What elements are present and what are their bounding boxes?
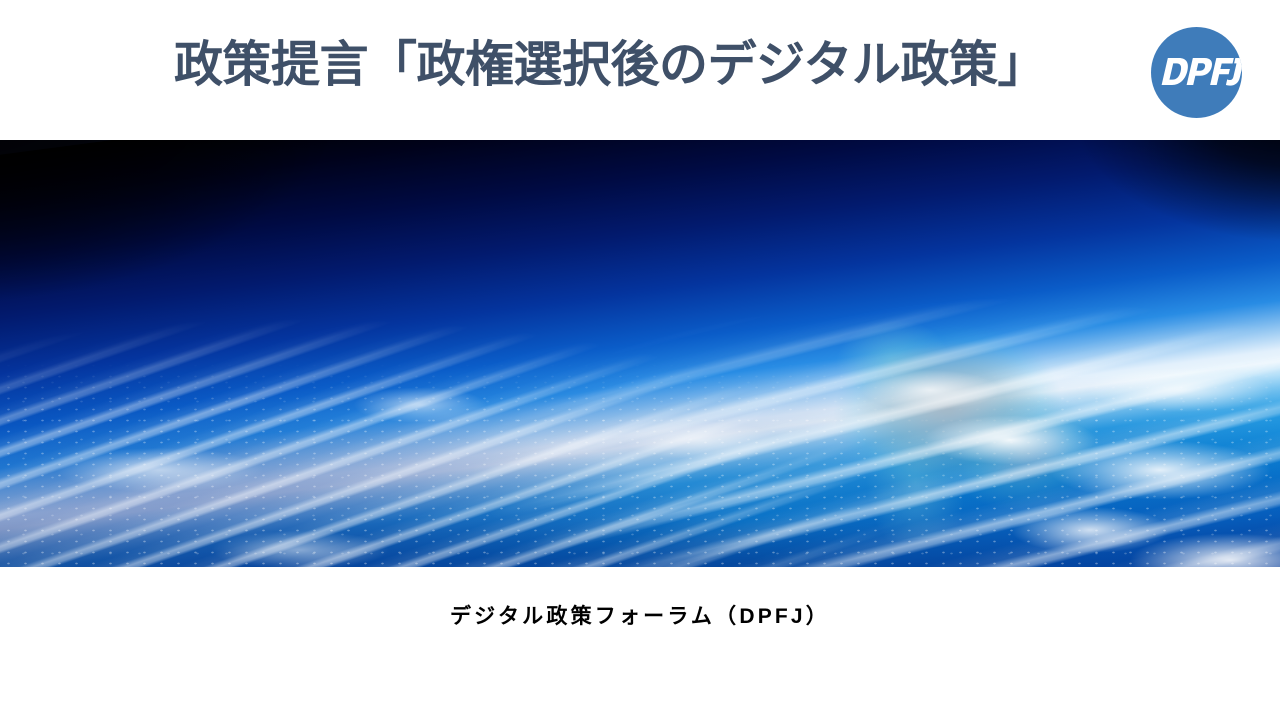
- slide-footer: デジタル政策フォーラム（DPFJ）: [0, 567, 1280, 720]
- earth-from-space-photo: [0, 140, 1280, 567]
- space-vignette-right: [0, 140, 1280, 567]
- dpfj-logo-mark: [1151, 27, 1242, 118]
- dpfj-logo: [1151, 27, 1242, 118]
- presentation-slide: 政策提言「政権選択後のデジタル政策」: [0, 0, 1280, 720]
- organization-name: デジタル政策フォーラム（DPFJ）: [0, 600, 1280, 630]
- page-title: 政策提言「政権選択後のデジタル政策」: [0, 34, 1280, 96]
- slide-header: 政策提言「政権選択後のデジタル政策」: [0, 0, 1280, 140]
